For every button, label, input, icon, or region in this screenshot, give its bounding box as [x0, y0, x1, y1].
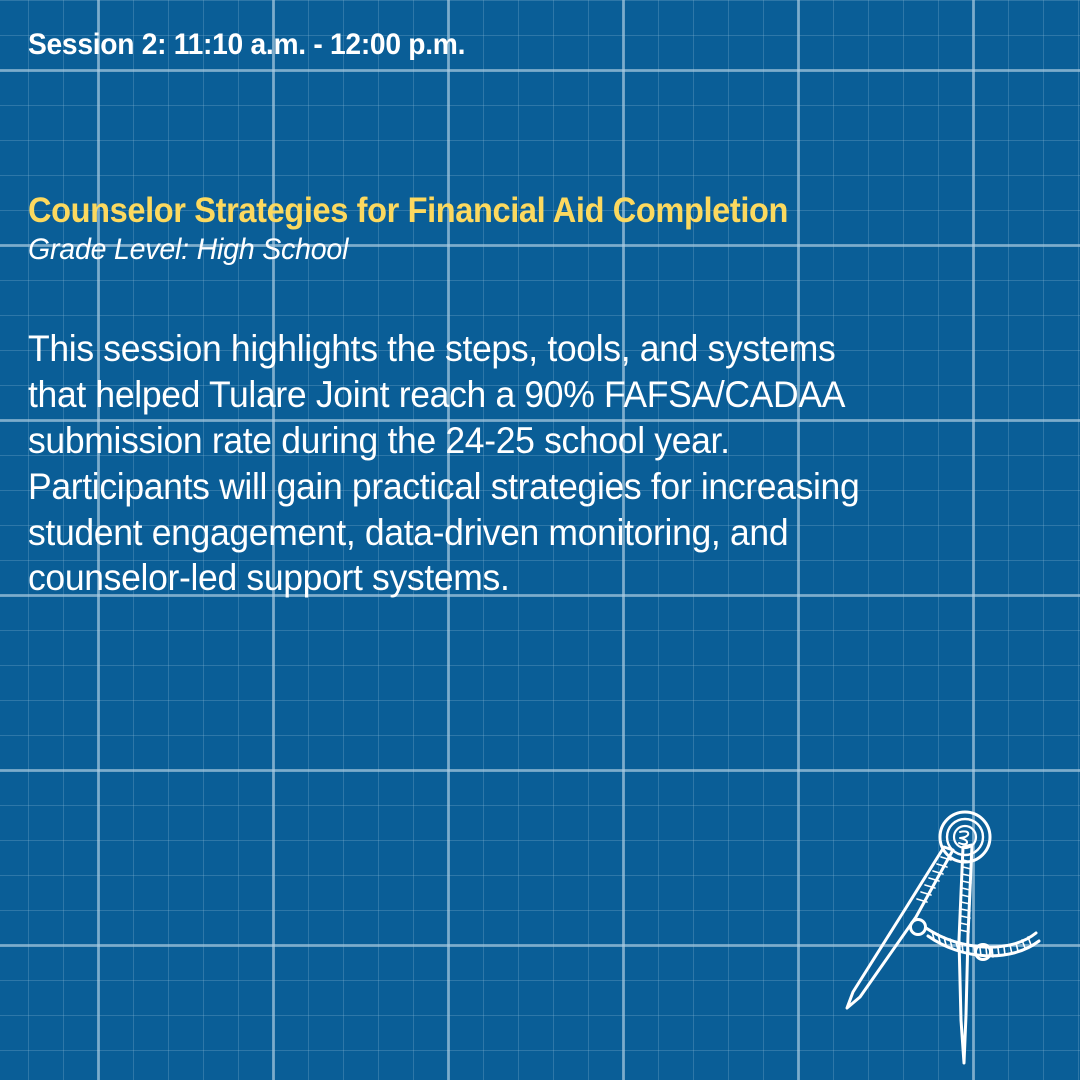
presentation-slide: Session 2: 11:10 a.m. - 12:00 p.m. Couns… — [0, 0, 1080, 1080]
session-time-header: Session 2: 11:10 a.m. - 12:00 p.m. — [28, 28, 465, 62]
session-title-block: Counselor Strategies for Financial Aid C… — [28, 192, 958, 266]
session-description: This session highlights the steps, tools… — [28, 326, 897, 601]
page-title: Counselor Strategies for Financial Aid C… — [28, 192, 893, 230]
grade-level-label: Grade Level: High School — [28, 233, 912, 267]
drafting-compass-icon — [820, 805, 1080, 1080]
